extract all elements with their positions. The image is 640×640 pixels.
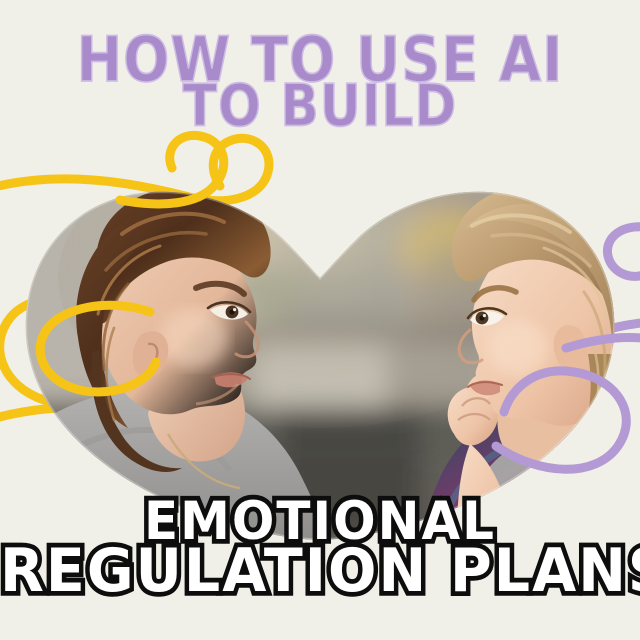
heart-clip-group bbox=[18, 138, 622, 548]
headline-line-2: TO BUILD bbox=[10, 82, 631, 133]
heart-photo bbox=[18, 138, 622, 548]
footline-line-2: REGULATION PLANS bbox=[0, 544, 640, 600]
poster-canvas: HOW TO USE AI TO BUILD EMOTIONAL REGULAT… bbox=[0, 0, 640, 640]
footline-text-block: EMOTIONAL REGULATION PLANS bbox=[0, 497, 640, 598]
headline-text-block: HOW TO USE AI TO BUILD bbox=[0, 33, 640, 128]
heart-photo-svg bbox=[18, 138, 622, 548]
